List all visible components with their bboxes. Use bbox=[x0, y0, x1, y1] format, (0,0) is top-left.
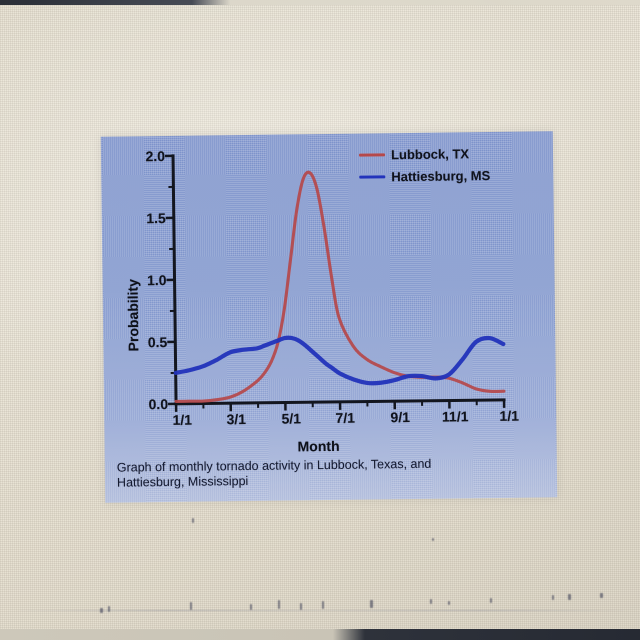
series-line-hattiesburg-ms bbox=[175, 335, 504, 386]
faint-mark bbox=[250, 604, 252, 610]
faint-mark bbox=[192, 518, 194, 523]
legend-label-hattiesburg: Hattiesburg, MS bbox=[391, 168, 490, 184]
faint-mark bbox=[370, 600, 373, 608]
legend-swatch-lubbock bbox=[359, 153, 385, 156]
legend-item-lubbock: Lubbock, TX bbox=[359, 146, 469, 162]
faint-mark bbox=[278, 600, 280, 609]
x-tick-label-jan-start: 1/1 bbox=[162, 412, 202, 428]
faint-mark bbox=[322, 601, 324, 609]
photograph-of-printed-graph: 2.0 1.5 1.0 0.5 0.0 1/1 3/1 5/1 7/1 9/1 … bbox=[0, 0, 640, 640]
faint-mark bbox=[552, 595, 554, 600]
axes-group bbox=[173, 152, 504, 404]
x-tick-label-may: 5/1 bbox=[271, 410, 311, 426]
faint-mark bbox=[430, 599, 432, 604]
faint-mark bbox=[108, 606, 110, 612]
legend-item-hattiesburg: Hattiesburg, MS bbox=[359, 168, 490, 185]
faint-mark bbox=[100, 608, 103, 613]
figure-caption-line-2: Hattiesburg, Mississippi bbox=[117, 474, 248, 490]
x-tick-label-sep: 9/1 bbox=[380, 409, 420, 425]
y-axis-title: Probability bbox=[125, 279, 142, 352]
figure-caption-line-1: Graph of monthly tornado activity in Lub… bbox=[117, 457, 432, 475]
y-tick-label-2.0: 2.0 bbox=[119, 148, 165, 165]
x-tick-label-nov: 11/1 bbox=[433, 408, 477, 425]
faint-mark bbox=[448, 601, 450, 605]
photo-top-bezel bbox=[0, 0, 640, 5]
figure-panel: 2.0 1.5 1.0 0.5 0.0 1/1 3/1 5/1 7/1 9/1 … bbox=[101, 131, 557, 502]
data-series-group bbox=[173, 170, 504, 402]
faint-mark bbox=[300, 603, 302, 610]
legend-label-lubbock: Lubbock, TX bbox=[391, 146, 469, 162]
photo-bottom-bezel bbox=[0, 629, 640, 640]
x-tick-label-mar: 3/1 bbox=[216, 411, 256, 427]
legend-swatch-hattiesburg bbox=[359, 175, 385, 178]
x-tick-label-jul: 7/1 bbox=[325, 410, 365, 426]
faint-mark bbox=[568, 594, 571, 600]
faint-mark bbox=[432, 538, 434, 541]
figure-caption: Graph of monthly tornado activity in Lub… bbox=[117, 455, 537, 491]
faint-mark bbox=[190, 602, 192, 610]
x-tick-label-jan-end: 1/1 bbox=[489, 408, 529, 424]
y-tick-label-0.0: 0.0 bbox=[122, 396, 168, 413]
faint-mark bbox=[600, 593, 603, 598]
y-tick-label-1.5: 1.5 bbox=[120, 210, 166, 227]
faint-mark bbox=[490, 598, 492, 603]
x-axis-title: Month bbox=[297, 438, 339, 455]
plot-area: 2.0 1.5 1.0 0.5 0.0 1/1 3/1 5/1 7/1 9/1 … bbox=[101, 131, 557, 446]
